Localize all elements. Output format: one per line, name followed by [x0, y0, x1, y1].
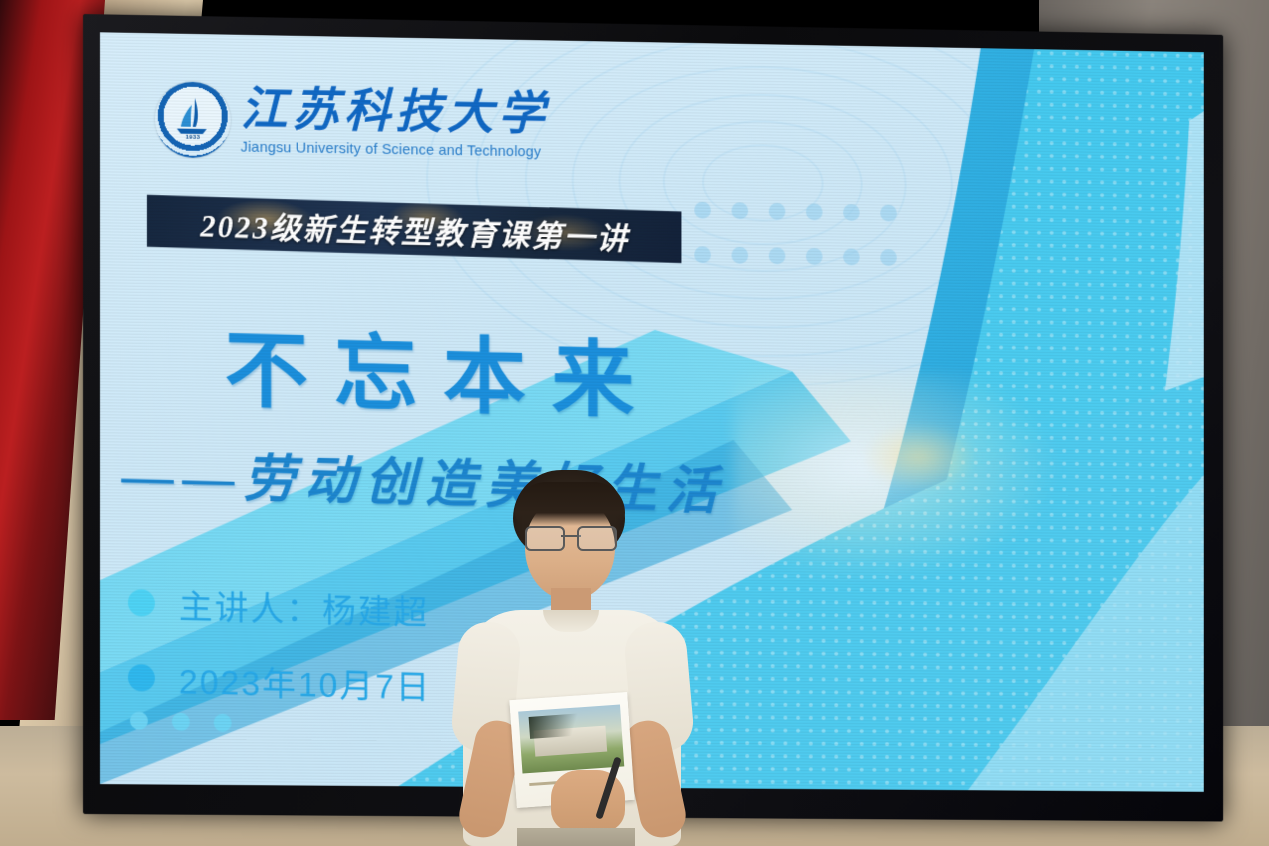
university-logo: 1933 江苏科技大学 Jiangsu University of Scienc…	[155, 81, 550, 163]
booklet-photo	[518, 705, 624, 774]
university-name-cn: 江苏科技大学	[241, 86, 550, 138]
bullet-row: 主讲人：杨建超	[128, 578, 431, 635]
sailboat-icon	[173, 95, 213, 138]
glasses-icon	[525, 526, 617, 548]
bullet-dot-icon	[128, 664, 155, 692]
university-name-en: Jiangsu University of Science and Techno…	[241, 140, 550, 160]
lecture-hall-scene: 1933 江苏科技大学 Jiangsu University of Scienc…	[0, 0, 1269, 846]
mini-dot-decoration	[130, 712, 232, 732]
bullet-dot-icon	[128, 589, 155, 617]
bullet-label: 2023年10月7日	[179, 654, 432, 709]
slide-bullets: 主讲人：杨建超 2023年10月7日	[128, 578, 431, 709]
hair-fringe	[515, 482, 625, 526]
bullet-label: 主讲人：杨建超	[179, 579, 429, 634]
course-banner-text: 2023级新生转型教育课第一讲	[200, 200, 629, 258]
bullet-row: 2023年10月7日	[128, 653, 431, 709]
slide-headline: 不忘本来	[225, 303, 660, 435]
emblem-year: 1933	[155, 134, 231, 141]
trousers	[517, 828, 635, 846]
speaker-figure	[455, 470, 690, 846]
emblem-icon: 1933	[155, 81, 231, 158]
booklet-ink-art	[529, 713, 588, 739]
